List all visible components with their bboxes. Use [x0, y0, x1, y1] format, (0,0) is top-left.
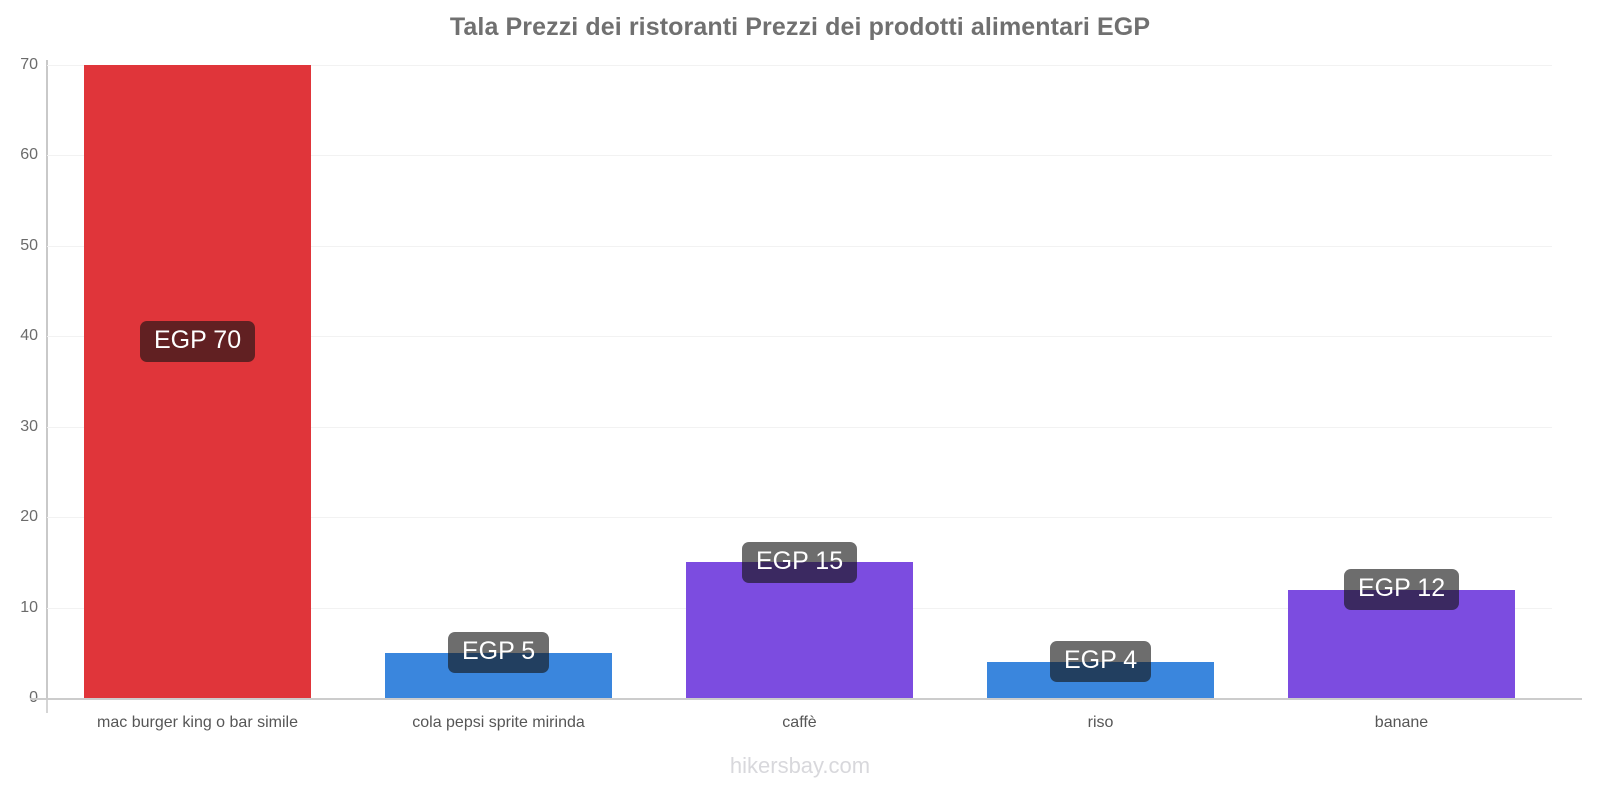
bar-value-label: EGP 70	[140, 321, 255, 362]
bar-value-label: EGP 12	[1344, 569, 1459, 610]
bar-value-label: EGP 15	[742, 542, 857, 583]
chart-title: Tala Prezzi dei ristoranti Prezzi dei pr…	[0, 13, 1600, 42]
y-axis-tick-label: 20	[0, 509, 38, 525]
plot-area	[47, 65, 1552, 698]
x-axis-tick-label: riso	[950, 713, 1251, 732]
bar-chart: Tala Prezzi dei ristoranti Prezzi dei pr…	[0, 0, 1600, 800]
x-axis-line	[30, 698, 1582, 700]
x-axis-tick-label: mac burger king o bar simile	[47, 713, 348, 732]
x-axis-tick-label: banane	[1251, 713, 1552, 732]
x-axis-tick-mark	[46, 700, 48, 713]
footer-watermark: hikersbay.com	[0, 753, 1600, 779]
y-axis-tick-label: 10	[0, 600, 38, 616]
y-axis-tick-label: 30	[0, 419, 38, 435]
bar[interactable]	[84, 65, 311, 698]
y-axis-tick-label: 50	[0, 238, 38, 254]
x-axis-tick-label: caffè	[649, 713, 950, 732]
y-axis-tick-label: 70	[0, 57, 38, 73]
y-axis-tick-label: 40	[0, 328, 38, 344]
bar-value-label: EGP 5	[448, 632, 549, 673]
y-axis-tick-label: 60	[0, 147, 38, 163]
bar-value-label: EGP 4	[1050, 641, 1151, 682]
x-axis-tick-label: cola pepsi sprite mirinda	[348, 713, 649, 732]
